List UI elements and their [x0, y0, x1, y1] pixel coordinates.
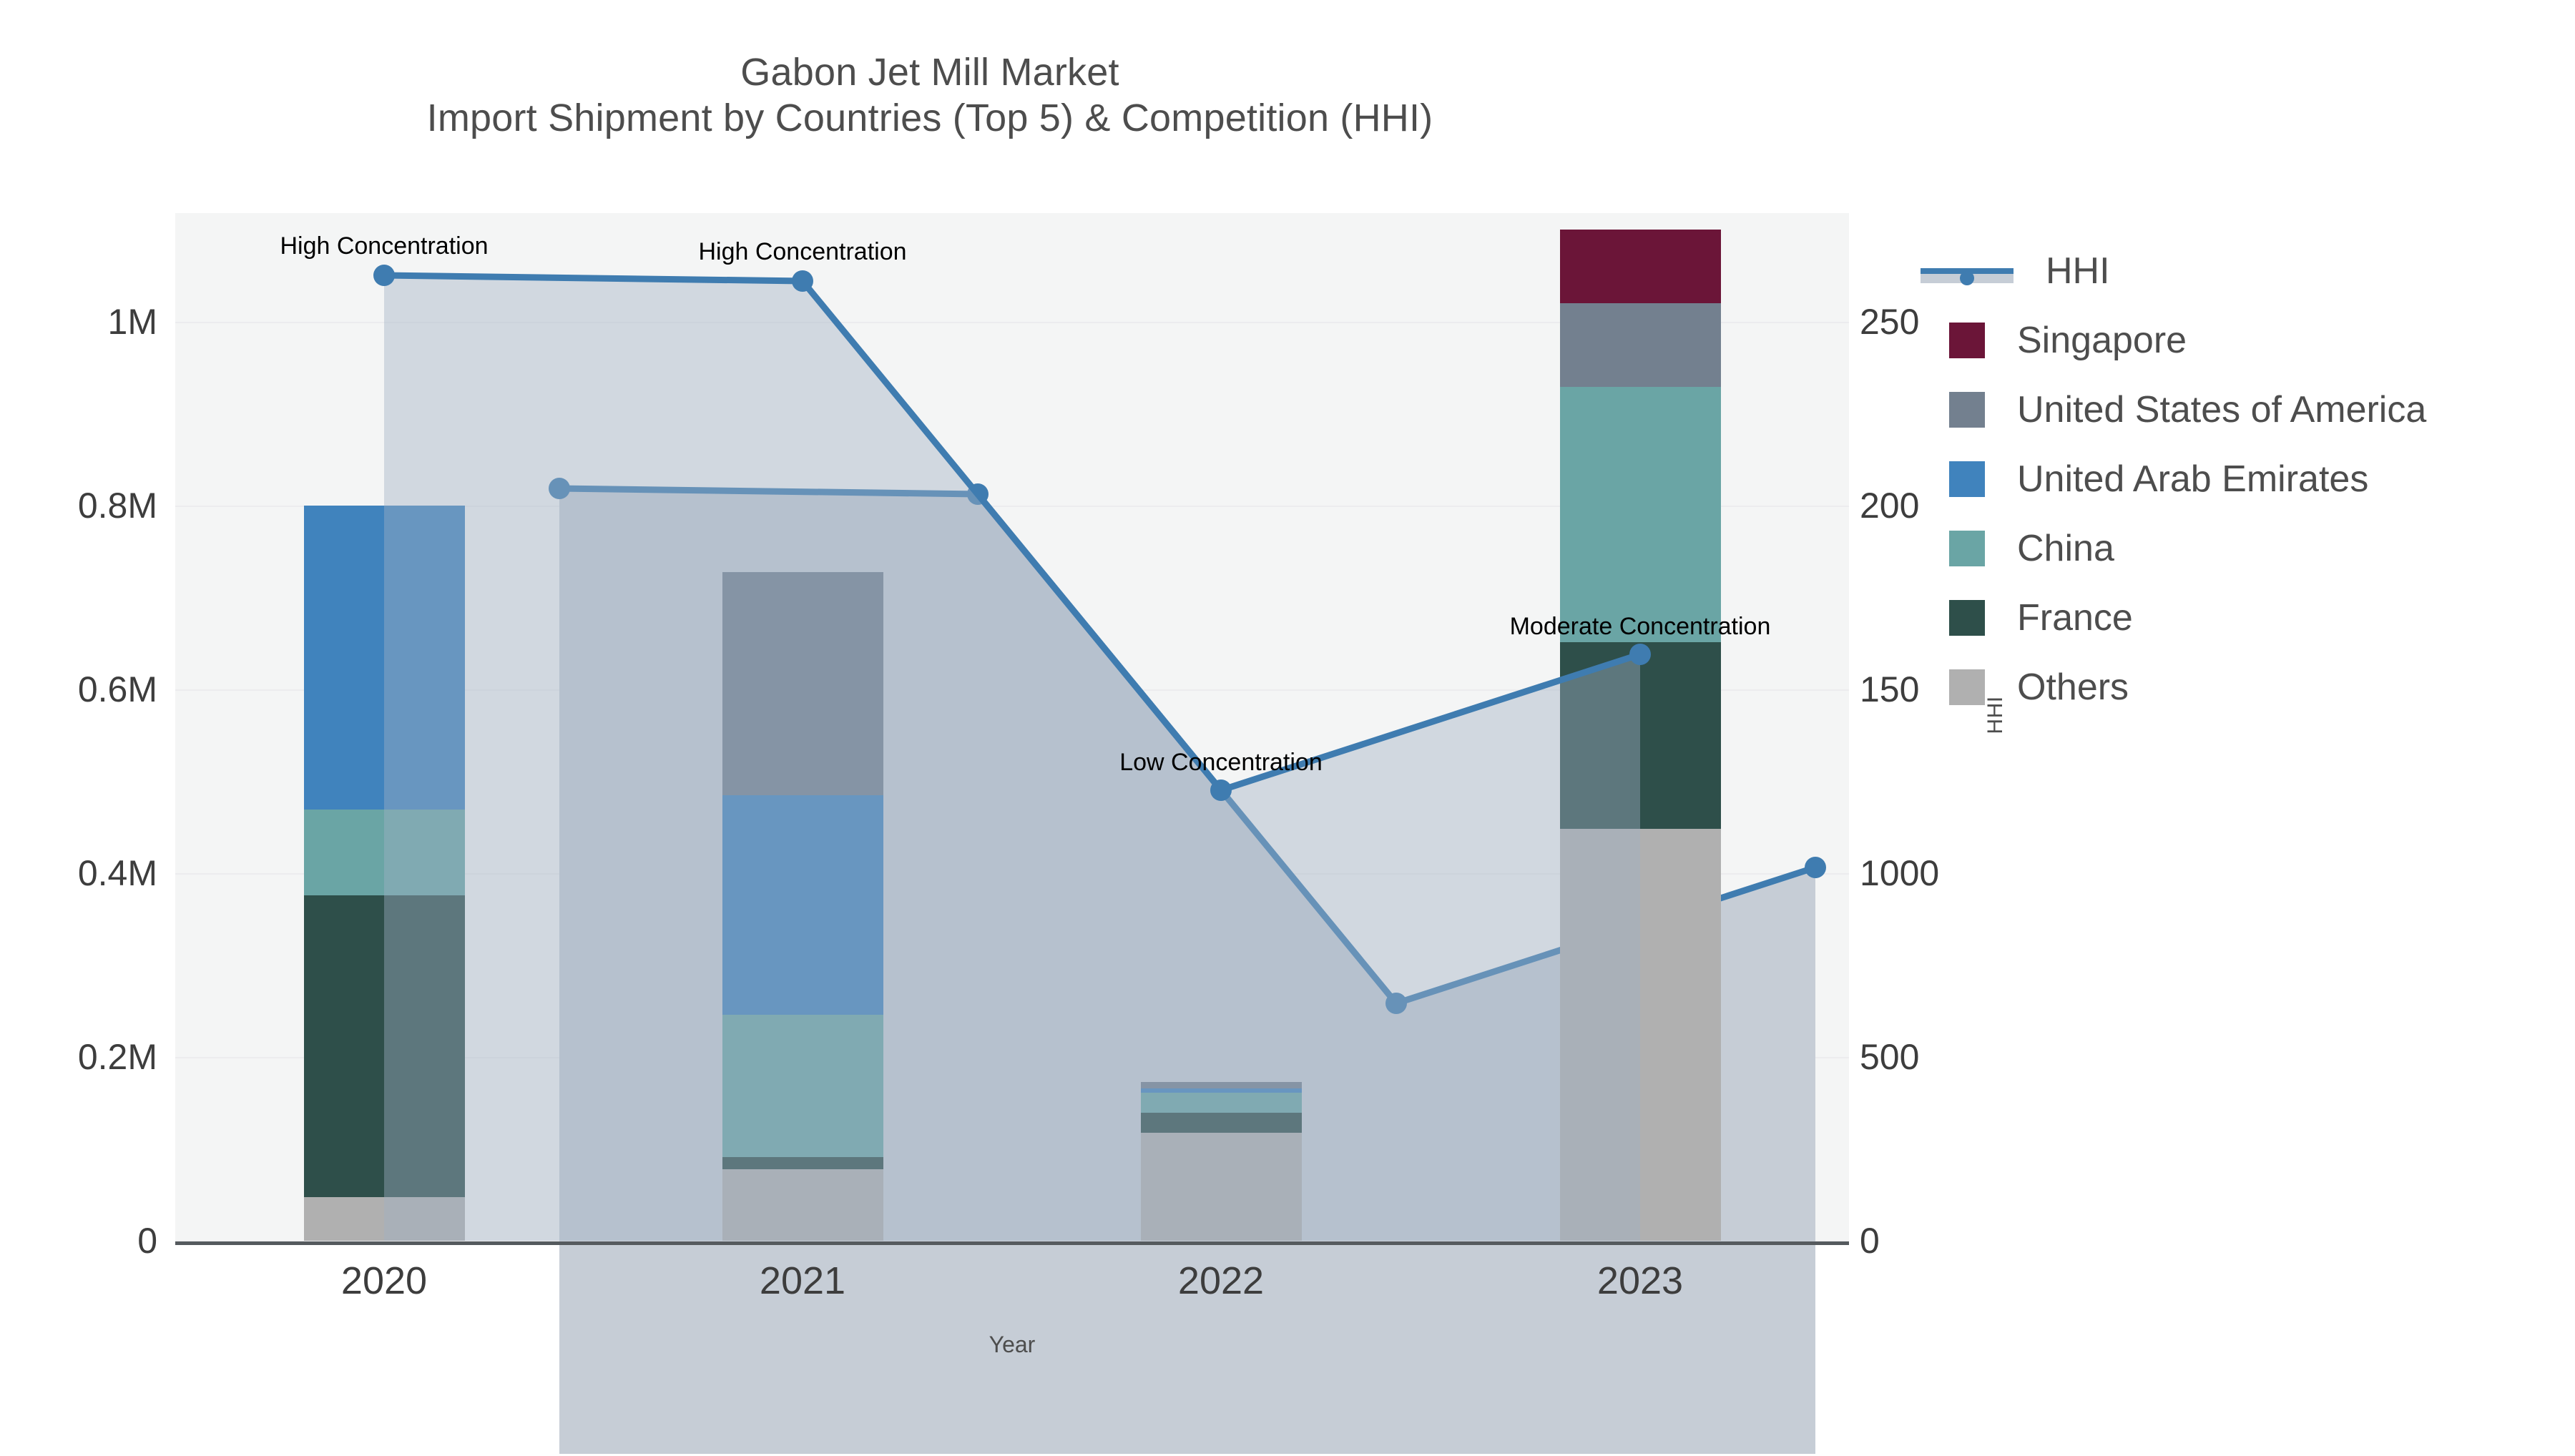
ytick-left-0: 0	[14, 1220, 157, 1261]
bar-2022-uae	[1141, 1088, 1302, 1093]
bar-2021-others	[722, 1169, 883, 1241]
chart-figure: Gabon Jet Mill Market Import Shipment by…	[0, 0, 2575, 1448]
bar-2023-singapore	[1560, 230, 1721, 303]
swatch-france-icon	[1949, 600, 1985, 636]
ytick-right-500: 500	[1860, 1036, 1919, 1078]
bar-2020-uae	[304, 506, 465, 810]
hhi-point-2021	[967, 483, 989, 505]
swatch-singapore-icon	[1949, 323, 1985, 358]
ytick-right-1000: 1000	[1860, 852, 1939, 894]
bar-2022-usa	[1141, 1082, 1302, 1088]
bar-2021-uae	[722, 795, 883, 1015]
legend-item-hhi[interactable]: HHI	[1949, 236, 2550, 305]
legend-item-united-states-of-america[interactable]: United States of America	[1949, 375, 2550, 444]
bar-2020-france	[304, 895, 465, 1197]
bar-2023-others	[1560, 829, 1721, 1241]
hhi-point-2020	[549, 478, 570, 499]
bar-2023-china	[1560, 387, 1721, 642]
chart-title: Gabon Jet Mill Market Import Shipment by…	[0, 50, 1860, 141]
legend-item-france[interactable]: France	[1949, 583, 2550, 652]
annotation-2020: High Concentration	[280, 232, 488, 260]
legend-label-hhi: HHI	[2046, 250, 2110, 292]
ytick-left-1M: 1M	[14, 301, 157, 343]
bar-2022-others	[1141, 1133, 1302, 1241]
ytick-left-0.2M: 0.2M	[14, 1036, 157, 1078]
hhi-line-icon	[1921, 253, 2014, 289]
legend-item-china[interactable]: China	[1949, 513, 2550, 583]
plot-area	[175, 213, 1849, 1243]
legend-label-others: Others	[2017, 666, 2129, 709]
annotation-2022: Low Concentration	[1119, 749, 1323, 777]
xtick-2023: 2023	[1597, 1259, 1683, 1303]
legend-label-china: China	[2017, 527, 2114, 570]
bar-2023-france	[1560, 642, 1721, 829]
hhi-point-2022	[1385, 993, 1407, 1014]
x-axis-line	[175, 1241, 1849, 1245]
ytick-left-0.6M: 0.6M	[14, 669, 157, 710]
swatch-uae-icon	[1949, 461, 1985, 497]
swatch-china-icon	[1949, 531, 1985, 566]
legend: HHI Singapore United States of America U…	[1949, 236, 2550, 722]
bar-2022-france	[1141, 1113, 1302, 1133]
xtick-2020: 2020	[341, 1259, 427, 1303]
legend-label-france: France	[2017, 596, 2133, 639]
ytick-right-2500: 250	[1860, 301, 1919, 343]
bar-2021-usa	[722, 572, 883, 795]
annotation-2023: Moderate Concentration	[1510, 613, 1771, 641]
ytick-left-0.4M: 0.4M	[14, 852, 157, 894]
annotation-2021: High Concentration	[698, 238, 906, 266]
x-axis-label: Year	[989, 1332, 1036, 1358]
legend-label-singapore: Singapore	[2017, 319, 2187, 362]
swatch-others-icon	[1949, 669, 1985, 705]
legend-label-usa: United States of America	[2017, 388, 2426, 431]
xtick-2022: 2022	[1178, 1259, 1264, 1303]
bar-2021-france	[722, 1157, 883, 1169]
bar-2020-others	[304, 1197, 465, 1241]
ytick-left-0.8M: 0.8M	[14, 485, 157, 526]
bar-2023-usa	[1560, 303, 1721, 387]
chart-title-line-2: Import Shipment by Countries (Top 5) & C…	[0, 96, 1860, 142]
chart-title-line-1: Gabon Jet Mill Market	[0, 50, 1860, 96]
legend-item-singapore[interactable]: Singapore	[1949, 305, 2550, 375]
bar-2021-china	[722, 1015, 883, 1157]
legend-label-uae: United Arab Emirates	[2017, 458, 2368, 501]
swatch-usa-icon	[1949, 392, 1985, 428]
bar-2020-china	[304, 810, 465, 895]
legend-item-united-arab-emirates[interactable]: United Arab Emirates	[1949, 444, 2550, 513]
ytick-right-2000: 200	[1860, 485, 1919, 526]
ytick-right-0: 0	[1860, 1220, 1880, 1261]
ytick-right-1500: 150	[1860, 669, 1919, 710]
legend-item-others[interactable]: Others	[1949, 652, 2550, 722]
xtick-2021: 2021	[760, 1259, 845, 1303]
hhi-point-2023	[1805, 857, 1826, 878]
bar-2022-china	[1141, 1093, 1302, 1113]
